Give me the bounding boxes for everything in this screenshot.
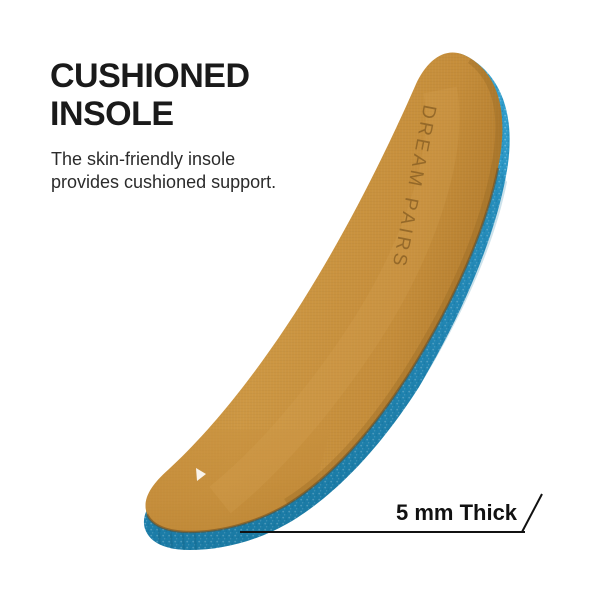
description-text: The skin-friendly insole provides cushio… <box>51 148 341 194</box>
page-title: CUSHIONED INSOLE <box>50 57 350 133</box>
thickness-label: 5 mm Thick <box>396 500 517 526</box>
product-feature-image: DREAM PAIRS CUSHIONED INSOLE The skin-fr… <box>0 0 600 600</box>
thickness-rule <box>240 531 525 533</box>
thickness-leader-line <box>520 492 546 534</box>
